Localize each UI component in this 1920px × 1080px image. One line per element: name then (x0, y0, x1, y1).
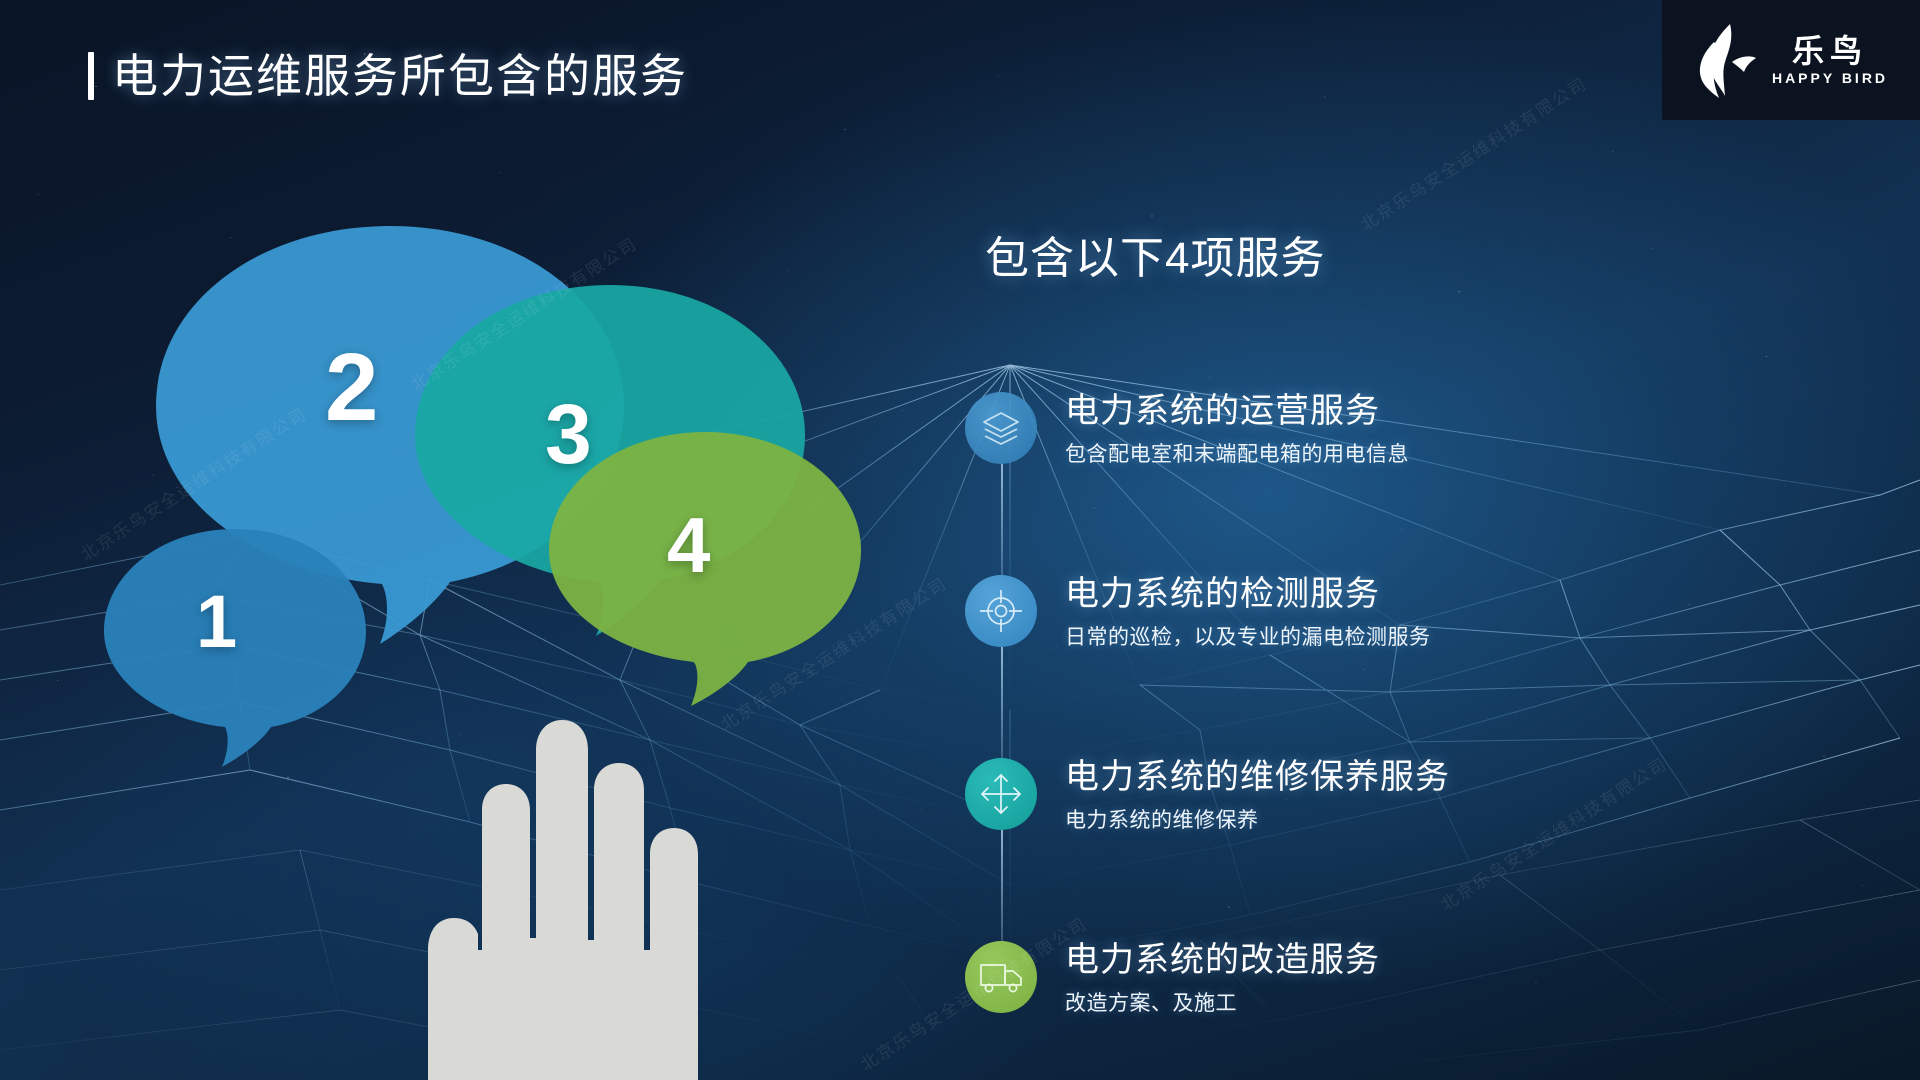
service-icon-wrap-4 (965, 941, 1037, 1013)
service-desc: 改造方案、及施工 (1065, 990, 1380, 1017)
service-icon-wrap-2 (965, 575, 1037, 647)
bird-flame-icon (1694, 22, 1758, 98)
service-desc: 包含配电室和末端配电箱的用电信息 (1065, 441, 1409, 468)
service-list: 电力系统的运营服务 包含配电室和末端配电箱的用电信息 电力系统的检测服务 日常的… (965, 390, 1725, 1080)
truck-icon (965, 941, 1037, 1013)
service-icon-wrap-3 (965, 758, 1037, 830)
service-title: 电力系统的运营服务 (1065, 392, 1409, 431)
speech-bubble-1: 1 (100, 525, 370, 770)
watermark: 北京乐鸟安全运维科技有限公司 (1355, 70, 1592, 236)
service-desc: 日常的巡检，以及专业的漏电检测服务 (1065, 624, 1431, 651)
sub-heading: 包含以下4项服务 (985, 222, 1325, 286)
service-text-3: 电力系统的维修保养服务 电力系统的维修保养 (1065, 756, 1450, 834)
service-title: 电力系统的检测服务 (1065, 575, 1431, 614)
service-item-2[interactable]: 电力系统的检测服务 日常的巡检，以及专业的漏电检测服务 (965, 573, 1725, 756)
service-title: 电力系统的改造服务 (1065, 941, 1380, 980)
slide-canvas: 电力运维服务所包含的服务 乐鸟 HAPPY BIRD 2 3 (0, 0, 1920, 1080)
service-icon-wrap-1 (965, 392, 1037, 464)
logo-chinese-name: 乐鸟 (1792, 35, 1868, 67)
service-item-1[interactable]: 电力系统的运营服务 包含配电室和末端配电箱的用电信息 (965, 390, 1725, 573)
service-text-4: 电力系统的改造服务 改造方案、及施工 (1065, 939, 1380, 1017)
service-connector-line (1001, 830, 1003, 941)
service-text-2: 电力系统的检测服务 日常的巡检，以及专业的漏电检测服务 (1065, 573, 1431, 651)
service-connector-line (1001, 464, 1003, 575)
service-text-1: 电力系统的运营服务 包含配电室和末端配电箱的用电信息 (1065, 390, 1409, 468)
target-crosshair-icon (965, 575, 1037, 647)
service-desc: 电力系统的维修保养 (1065, 807, 1450, 834)
logo-text-group: 乐鸟 HAPPY BIRD (1772, 35, 1888, 85)
logo-english-name: HAPPY BIRD (1772, 71, 1888, 85)
move-arrows-icon (965, 758, 1037, 830)
service-title: 电力系统的维修保养服务 (1065, 758, 1450, 797)
brand-logo: 乐鸟 HAPPY BIRD (1662, 0, 1920, 120)
service-item-4[interactable]: 电力系统的改造服务 改造方案、及施工 (965, 939, 1725, 1080)
service-connector-line (1001, 647, 1003, 758)
speech-bubble-4-number: 4 (667, 506, 710, 584)
speech-bubble-1-number: 1 (196, 585, 237, 659)
speech-bubble-2-number: 2 (325, 340, 378, 436)
layers-icon (965, 392, 1037, 464)
service-item-3[interactable]: 电力系统的维修保养服务 电力系统的维修保养 (965, 756, 1725, 939)
hand-silhouette-icon (370, 650, 720, 1080)
